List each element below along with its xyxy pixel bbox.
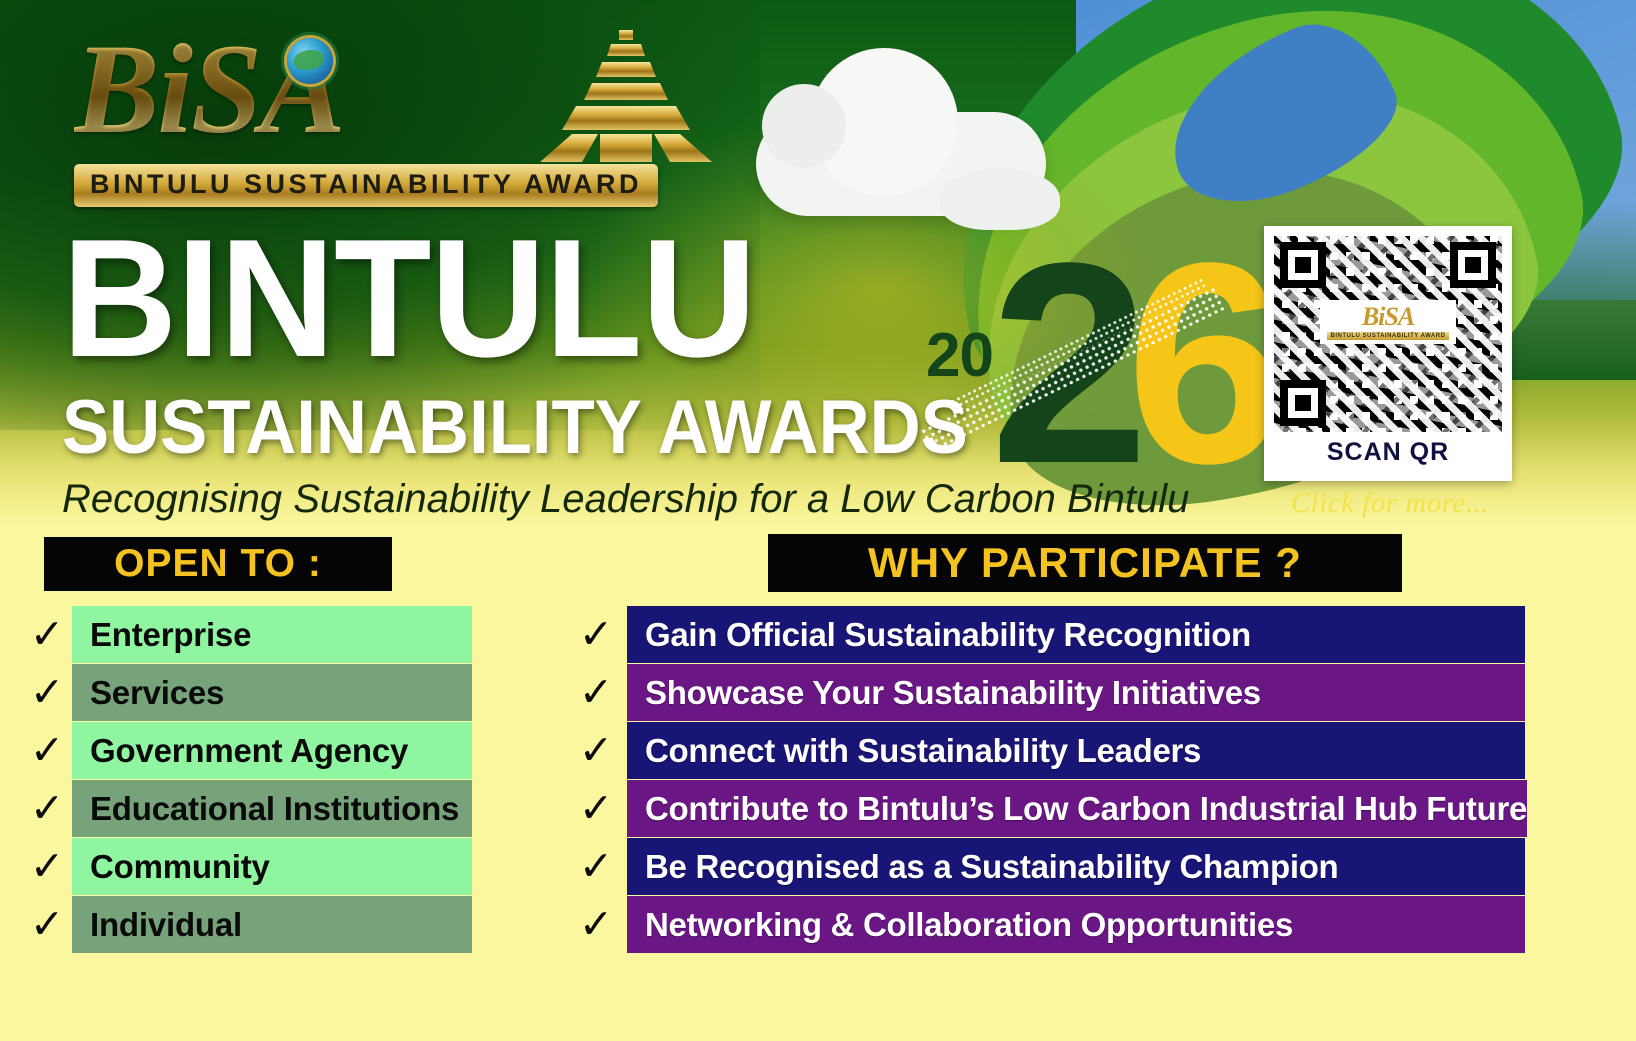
why-participate-banner: WHY PARTICIPATE ?: [768, 534, 1402, 592]
tower-icon: [526, 30, 726, 162]
open-to-banner-label: OPEN TO :: [114, 542, 322, 586]
poster-root: BiSA: [0, 0, 1636, 1041]
open-to-item-label: Government Agency: [72, 722, 472, 779]
check-icon: ✓: [22, 722, 72, 779]
qr-click-link[interactable]: Click for more...: [1266, 487, 1514, 520]
qr-finder-bottom-left: [1280, 380, 1326, 426]
year-badge: 2 6 20: [918, 238, 1238, 488]
why-participate-item-label: Connect with Sustainability Leaders: [627, 722, 1525, 779]
why-participate-item-label: Networking & Collaboration Opportunities: [627, 896, 1525, 953]
list-item: ✓Gain Official Sustainability Recognitio…: [565, 606, 1525, 663]
why-participate-list: ✓Gain Official Sustainability Recognitio…: [565, 606, 1525, 954]
why-participate-item-label: Gain Official Sustainability Recognition: [627, 606, 1525, 663]
check-icon: ✓: [565, 606, 627, 663]
check-icon: ✓: [22, 838, 72, 895]
list-item: ✓Educational Institutions: [22, 780, 472, 837]
list-item: ✓Services: [22, 664, 472, 721]
qr-code-icon[interactable]: BiSA BINTULU SUSTAINABILITY AWARD: [1274, 236, 1502, 432]
check-icon: ✓: [565, 780, 627, 837]
qr-panel[interactable]: BiSA BINTULU SUSTAINABILITY AWARD SCAN Q…: [1264, 226, 1512, 481]
open-to-item-label: Enterprise: [72, 606, 472, 663]
open-to-banner: OPEN TO :: [44, 537, 392, 591]
year-digit-gold: 6: [1126, 220, 1285, 506]
check-icon: ✓: [22, 606, 72, 663]
list-item: ✓Individual: [22, 896, 472, 953]
open-to-item-label: Services: [72, 664, 472, 721]
page-title: BINTULU: [62, 226, 1012, 370]
bisa-logo: BiSA: [74, 24, 674, 214]
why-participate-item-label: Showcase Your Sustainability Initiatives: [627, 664, 1525, 721]
logo-banner-text: BINTULU SUSTAINABILITY AWARD: [90, 169, 642, 199]
why-participate-banner-label: WHY PARTICIPATE ?: [868, 539, 1302, 587]
check-icon: ✓: [565, 896, 627, 953]
open-to-list: ✓Enterprise✓Services✓Government Agency✓E…: [22, 606, 472, 954]
globe-icon: [287, 38, 333, 84]
check-icon: ✓: [565, 838, 627, 895]
list-item: ✓Enterprise: [22, 606, 472, 663]
why-participate-item-label: Contribute to Bintulu’s Low Carbon Indus…: [627, 780, 1527, 837]
check-icon: ✓: [22, 896, 72, 953]
open-to-item-label: Community: [72, 838, 472, 895]
check-icon: ✓: [22, 664, 72, 721]
check-icon: ✓: [22, 780, 72, 837]
list-item: ✓Government Agency: [22, 722, 472, 779]
check-icon: ✓: [565, 664, 627, 721]
qr-embedded-logo-band: BINTULU SUSTAINABILITY AWARD: [1327, 332, 1450, 340]
list-item: ✓Community: [22, 838, 472, 895]
qr-caption: SCAN QR: [1274, 438, 1502, 467]
list-item: ✓Networking & Collaboration Opportunitie…: [565, 896, 1525, 953]
logo-mark: BiSA: [74, 24, 674, 164]
open-to-item-label: Educational Institutions: [72, 780, 472, 837]
qr-finder-top-left: [1280, 242, 1326, 288]
open-to-item-label: Individual: [72, 896, 472, 953]
list-item: ✓Contribute to Bintulu’s Low Carbon Indu…: [565, 780, 1525, 837]
page-subtitle: SUSTAINABILITY AWARDS: [62, 384, 992, 471]
check-icon: ✓: [565, 722, 627, 779]
why-participate-item-label: Be Recognised as a Sustainability Champi…: [627, 838, 1525, 895]
headline-block: BINTULU SUSTAINABILITY AWARDS Recognisin…: [62, 226, 1062, 522]
page-tagline: Recognising Sustainability Leadership fo…: [62, 477, 1062, 522]
qr-embedded-logo-letters: BiSA: [1362, 304, 1414, 330]
list-item: ✓Showcase Your Sustainability Initiative…: [565, 664, 1525, 721]
qr-finder-top-right: [1450, 242, 1496, 288]
logo-banner: BINTULU SUSTAINABILITY AWARD: [74, 164, 658, 207]
qr-embedded-logo: BiSA BINTULU SUSTAINABILITY AWARD: [1320, 300, 1456, 344]
year-prefix: 20: [926, 320, 993, 391]
list-item: ✓Be Recognised as a Sustainability Champ…: [565, 838, 1525, 895]
list-item: ✓Connect with Sustainability Leaders: [565, 722, 1525, 779]
